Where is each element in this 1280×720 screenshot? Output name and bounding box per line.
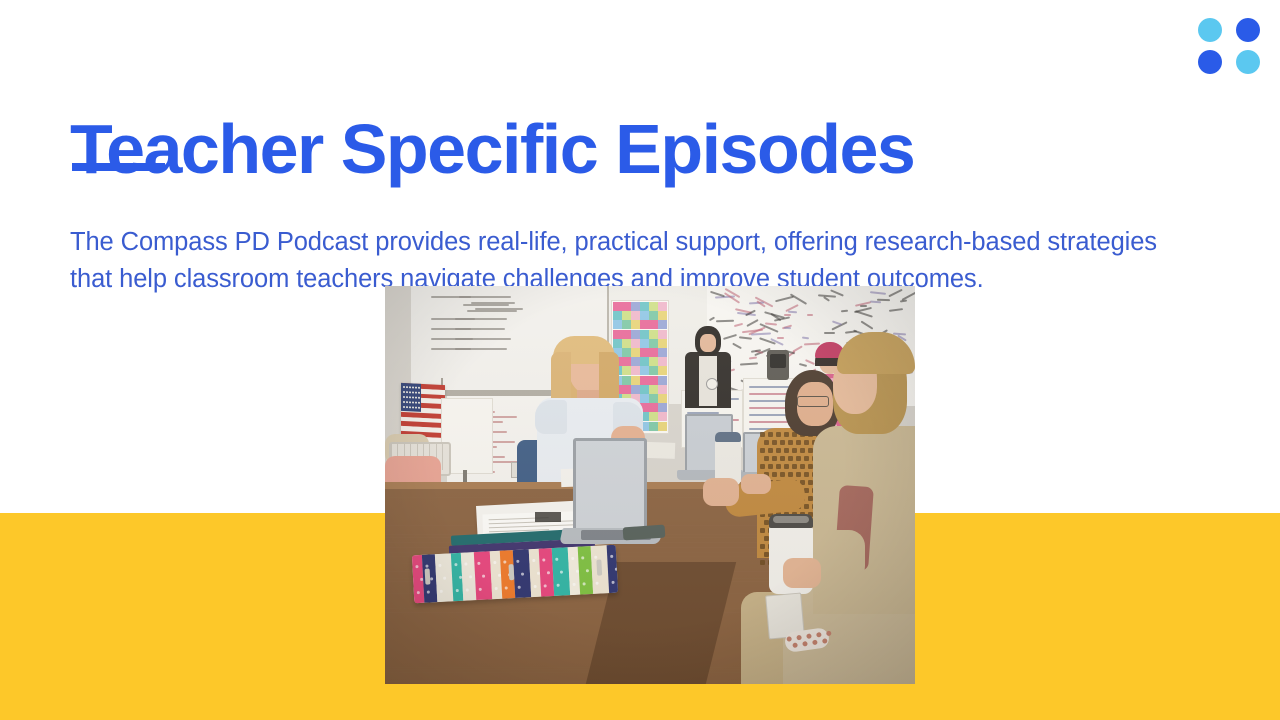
dot-top-left-icon — [1198, 18, 1222, 42]
photo-scene — [385, 286, 915, 684]
dot-top-right-icon — [1236, 18, 1260, 42]
accent-rule — [72, 163, 165, 171]
decorative-dot-cluster — [1198, 18, 1260, 74]
page-title: Teacher Specific Episodes — [70, 107, 914, 191]
photo-vignette — [385, 286, 915, 684]
slide: Teacher Specific Episodes The Compass PD… — [0, 0, 1280, 720]
dot-bottom-right-icon — [1236, 50, 1260, 74]
dot-bottom-left-icon — [1198, 50, 1222, 74]
meeting-photo — [385, 286, 915, 684]
